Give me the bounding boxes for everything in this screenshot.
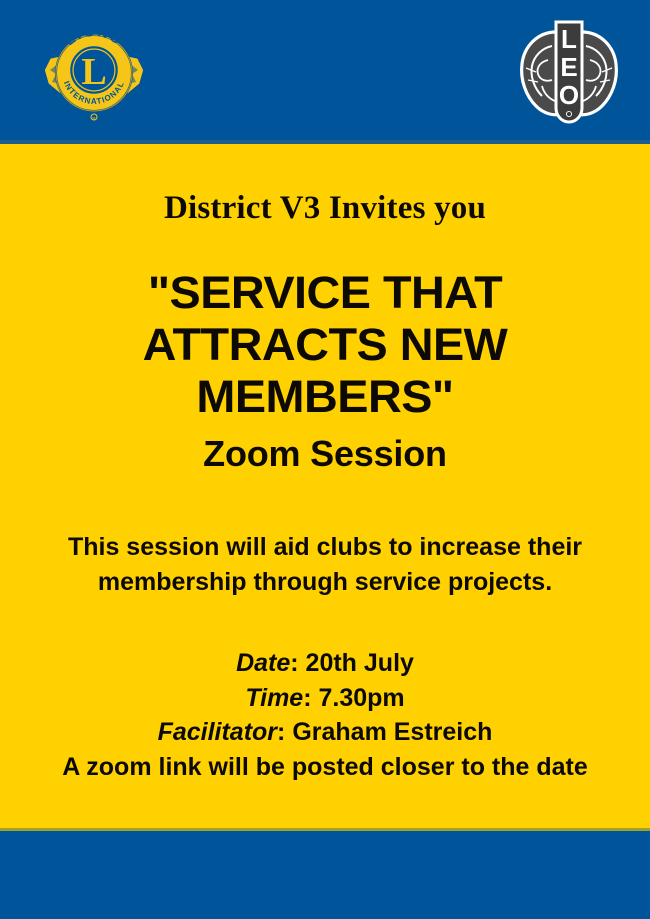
leo-letter-o: O — [559, 80, 579, 110]
leo-letter-e: E — [560, 52, 577, 82]
headline-line-3: MEMBERS" — [41, 371, 609, 423]
detail-separator-facilitator: : — [277, 718, 292, 746]
detail-value-facilitator: Graham Estreich — [292, 718, 492, 746]
description: This session will aid clubs to increase … — [0, 530, 650, 599]
detail-value-date: 20th July — [306, 649, 414, 677]
zoom-link-note: A zoom link will be posted closer to the… — [0, 750, 650, 785]
event-details: Date: 20th July Time: 7.30pm Facilitator… — [0, 646, 650, 784]
detail-row-date: Date: 20th July — [0, 646, 650, 681]
lions-international-logo: LIONS INTERNATIONAL L R — [38, 14, 150, 132]
headline: "SERVICE THAT ATTRACTS NEW MEMBERS" — [0, 267, 650, 422]
leo-letter-l: L — [561, 24, 577, 54]
leo-shield: L E O — [556, 22, 582, 122]
poster-canvas: LIONS INTERNATIONAL L R — [0, 0, 650, 919]
poster-content: District V3 Invites you "SERVICE THAT AT… — [0, 144, 650, 831]
detail-value-time: 7.30pm — [319, 684, 405, 712]
headline-line-2: ATTRACTS NEW — [41, 319, 609, 371]
lions-center-letter: L — [81, 51, 106, 93]
detail-separator-date: : — [290, 649, 305, 677]
detail-label-facilitator: Facilitator — [158, 718, 277, 746]
bottom-color-band — [0, 831, 650, 919]
detail-row-facilitator: Facilitator: Graham Estreich — [0, 715, 650, 750]
detail-label-date: Date — [236, 649, 290, 677]
detail-label-time: Time — [245, 684, 303, 712]
detail-row-time: Time: 7.30pm — [0, 681, 650, 716]
detail-separator-time: : — [303, 684, 318, 712]
leo-club-logo: L E O — [512, 16, 626, 130]
leo-lion-head-right — [578, 32, 616, 115]
headline-line-1: "SERVICE THAT — [41, 267, 609, 319]
invite-line: District V3 Invites you — [0, 192, 650, 225]
description-line-2: membership through service projects. — [40, 565, 610, 600]
svg-text:R: R — [93, 116, 96, 121]
description-line-1: This session will aid clubs to increase … — [40, 530, 610, 565]
leo-lion-head-left — [522, 32, 560, 115]
subheading: Zoom Session — [0, 436, 650, 472]
